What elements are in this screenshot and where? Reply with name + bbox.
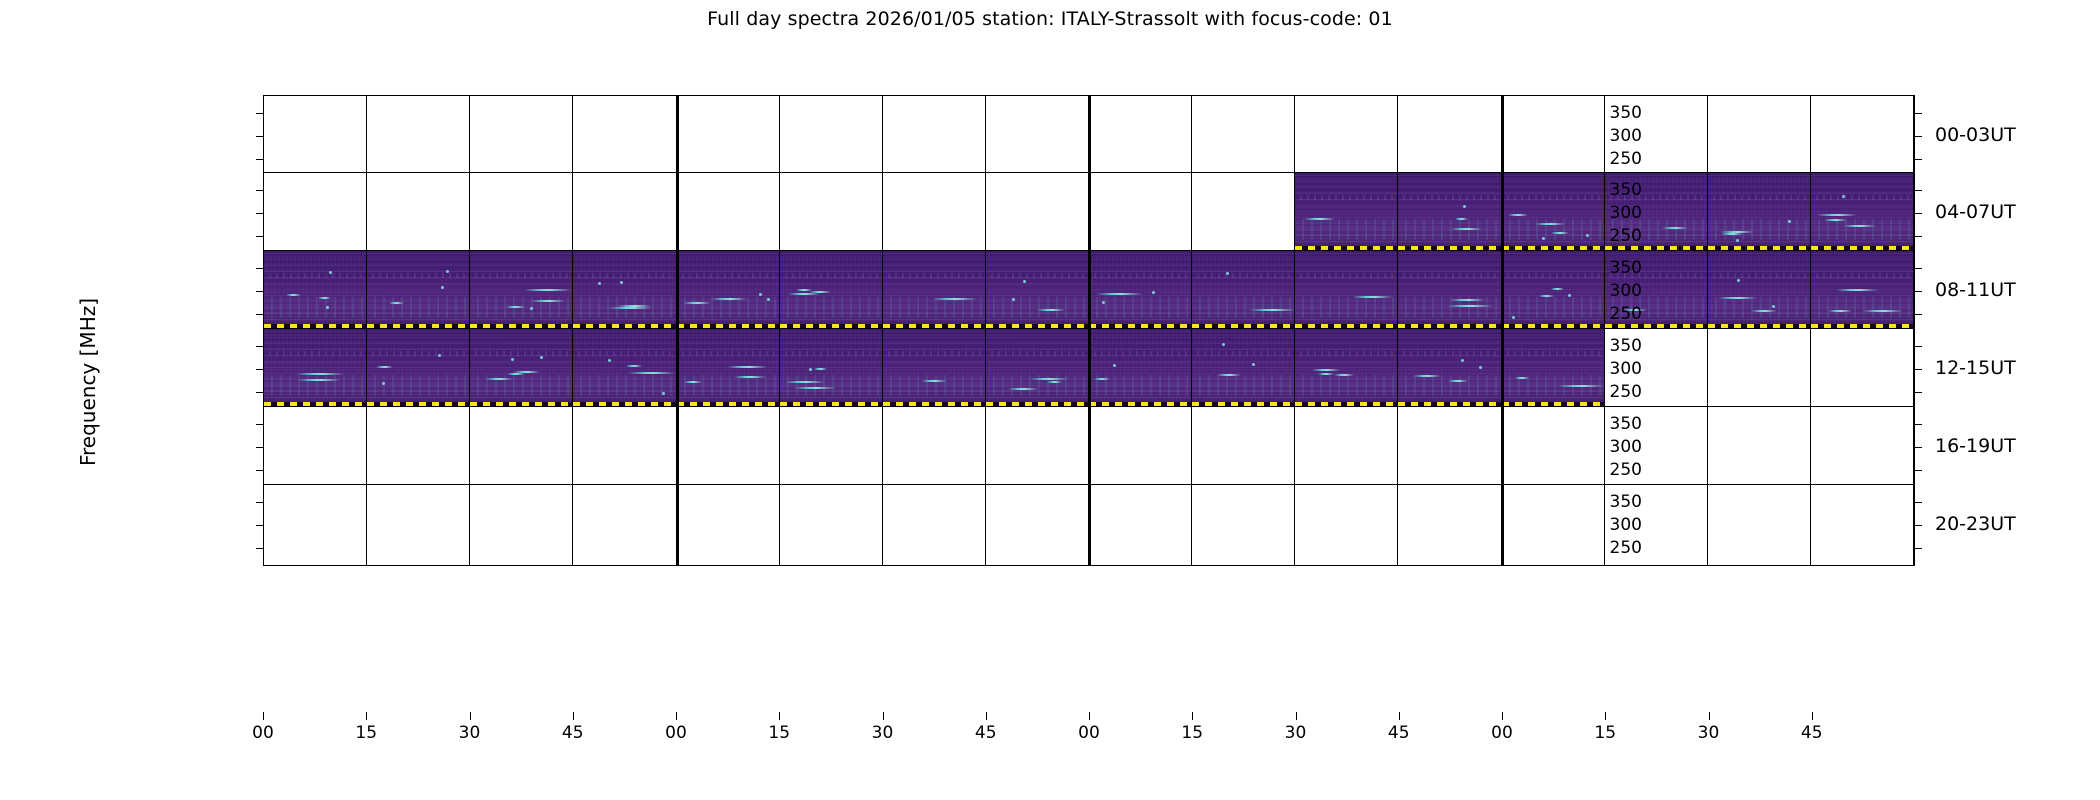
hour-separator — [677, 485, 679, 565]
x-tick-label: 00 — [252, 723, 274, 743]
y-tick-mark — [256, 447, 263, 448]
y-tick-mark — [256, 525, 263, 526]
spectra-texture — [677, 251, 779, 331]
y-axis-label: Frequency [MHz] — [76, 232, 100, 532]
spectra-bright-streak — [609, 307, 652, 309]
y-tick-mark — [256, 502, 263, 503]
spectra-bright-point — [540, 356, 543, 359]
x-tick-label: 30 — [1698, 723, 1720, 743]
spectra-panel-empty — [883, 96, 986, 176]
hour-separator — [1089, 329, 1091, 409]
hour-separator — [1089, 251, 1091, 331]
spectrogram-row: 350300250 — [263, 484, 1915, 566]
y-tick-label: 350 — [1582, 180, 1642, 200]
spectra-bright-streak — [1817, 214, 1857, 216]
spectra-panel-empty — [1708, 96, 1811, 176]
spectra-texture — [264, 251, 366, 331]
spectra-panel-empty — [264, 96, 367, 176]
spectra-bright-point — [511, 358, 514, 361]
spectra-panel-empty — [573, 407, 676, 487]
spectra-bright-streak — [1030, 378, 1068, 380]
hour-separator — [677, 96, 679, 176]
y-tick-mark-right — [1915, 470, 1922, 471]
spectra-bright-point — [608, 359, 611, 362]
x-tick-label: 15 — [768, 723, 790, 743]
spectra-panel-filled — [1089, 329, 1192, 409]
spectra-bright-streak — [1662, 227, 1688, 229]
x-tick-label: 00 — [1491, 723, 1513, 743]
hour-separator — [677, 251, 679, 331]
page-title: Full day spectra 2026/01/05 station: ITA… — [0, 8, 2100, 30]
spectra-bright-streak — [1094, 378, 1110, 380]
x-tick-mark — [263, 712, 264, 720]
row-plot-area — [263, 172, 1915, 254]
y-tick-label: 300 — [1582, 359, 1642, 379]
spectra-texture — [1708, 251, 1810, 331]
spectra-bright-point — [759, 293, 762, 296]
spectra-bright-streak — [1334, 374, 1355, 376]
spectra-bright-point — [1479, 366, 1482, 369]
x-tick-mark — [470, 712, 471, 720]
spectra-panel-filled — [1192, 329, 1295, 409]
spectra-bright-point — [1461, 359, 1464, 362]
spectra-panel-filled — [1295, 173, 1398, 253]
x-tick-label: 15 — [1181, 723, 1203, 743]
spectra-panel-empty — [1811, 485, 1914, 565]
spectrogram-row: 350300250 — [263, 95, 1915, 177]
y-tick-label: 250 — [1582, 149, 1642, 169]
x-tick-mark — [779, 712, 780, 720]
y-tick-mark-right — [1915, 392, 1922, 393]
spectra-panel-empty — [367, 96, 470, 176]
spectra-bright-streak — [296, 373, 343, 375]
spectra-panel-filled — [883, 251, 986, 331]
spectra-bright-streak — [1096, 293, 1142, 295]
spectra-bright-point — [382, 382, 385, 385]
spectra-bright-point — [1542, 237, 1545, 240]
spectra-bright-streak — [286, 294, 301, 296]
spectra-bright-streak — [814, 368, 827, 370]
spectra-panel-empty — [1089, 96, 1192, 176]
hour-separator — [677, 329, 679, 409]
hour-separator — [1502, 407, 1504, 487]
spectra-bright-streak — [626, 365, 642, 367]
spectra-bright-streak — [1718, 297, 1757, 299]
spectra-panel-filled — [986, 329, 1089, 409]
spectra-bright-streak — [485, 378, 513, 380]
spectra-panel-empty — [470, 96, 573, 176]
row-plot-area — [263, 484, 1915, 566]
y-tick-label: 300 — [1582, 281, 1642, 301]
y-tick-mark-right — [1915, 424, 1922, 425]
row-time-label: 00-03UT — [1935, 124, 2016, 146]
y-tick-mark-right — [1915, 447, 1922, 448]
spectra-panel-empty — [1295, 407, 1398, 487]
y-tick-mark — [256, 470, 263, 471]
spectra-panel-empty — [1192, 407, 1295, 487]
y-tick-label: 300 — [1582, 515, 1642, 535]
y-tick-mark-right — [1915, 268, 1922, 269]
spectra-panel-filled — [1708, 173, 1811, 253]
spectra-panel-empty — [1192, 96, 1295, 176]
spectra-panel-filled — [986, 251, 1089, 331]
x-tick-mark — [366, 712, 367, 720]
y-tick-mark — [256, 159, 263, 160]
x-axis: 00153045001530450015304500153045 — [263, 712, 1915, 752]
spectra-bright-streak — [785, 381, 824, 383]
spectra-panel-filled — [1192, 251, 1295, 331]
x-tick-mark — [1089, 712, 1090, 720]
spectra-bright-point — [1772, 305, 1775, 308]
y-tick-label: 250 — [1582, 226, 1642, 246]
x-tick-mark — [883, 712, 884, 720]
spectra-texture — [470, 329, 572, 409]
x-tick-mark — [1502, 712, 1503, 720]
spectra-bright-point — [1842, 195, 1845, 198]
spectra-panel-empty — [677, 96, 780, 176]
hour-separator — [1502, 96, 1504, 176]
spectra-texture — [1089, 329, 1191, 409]
spectra-texture — [780, 329, 882, 409]
spectra-panel-empty — [780, 485, 883, 565]
hour-separator — [677, 407, 679, 487]
spectra-panel-empty — [986, 173, 1089, 253]
x-tick-label: 30 — [1285, 723, 1307, 743]
y-tick-mark — [256, 548, 263, 549]
x-tick-label: 15 — [1594, 723, 1616, 743]
spectra-panel-empty — [1089, 173, 1192, 253]
spectra-bright-point — [1113, 364, 1116, 367]
spectra-bright-streak — [1217, 374, 1241, 376]
spectra-panel-filled — [573, 251, 676, 331]
spectra-panel-empty — [573, 173, 676, 253]
spectra-texture — [1295, 329, 1397, 409]
spectra-panel-filled — [470, 329, 573, 409]
spectra-panel-empty — [1295, 485, 1398, 565]
hour-separator — [1089, 485, 1091, 565]
spectra-texture — [986, 251, 1088, 331]
spectrogram-row: 350300250 — [263, 328, 1915, 410]
spectra-bright-streak — [734, 376, 766, 378]
spectra-bright-point — [1736, 239, 1739, 242]
spectra-panel-empty — [1089, 485, 1192, 565]
y-tick-label: 350 — [1582, 103, 1642, 123]
spectrogram-row: 350300250 — [263, 172, 1915, 254]
hour-separator — [1502, 485, 1504, 565]
spectra-panel-filled — [1295, 251, 1398, 331]
y-tick-mark-right — [1915, 213, 1922, 214]
spectra-panel-filled — [1811, 173, 1914, 253]
spectra-bright-streak — [932, 298, 977, 300]
spectra-bright-streak — [1551, 232, 1569, 234]
y-tick-mark-right — [1915, 190, 1922, 191]
spectra-texture — [1708, 173, 1810, 253]
x-tick-label: 15 — [355, 723, 377, 743]
spectra-panel-empty — [264, 485, 367, 565]
spectra-panel-empty — [1398, 407, 1501, 487]
row-time-label: 16-19UT — [1935, 435, 2016, 457]
y-tick-mark-right — [1915, 113, 1922, 114]
spectra-panel-filled — [1398, 251, 1501, 331]
spectrogram-row: 350300250 — [263, 406, 1915, 488]
spectra-bright-point — [438, 354, 441, 357]
spectra-texture — [264, 329, 366, 409]
spectra-panel-empty — [1708, 329, 1811, 409]
x-tick-mark — [986, 712, 987, 720]
spectra-panel-empty — [1811, 329, 1914, 409]
spectra-panel-empty — [883, 485, 986, 565]
y-tick-mark-right — [1915, 502, 1922, 503]
spectra-texture — [573, 251, 675, 331]
spectra-bright-point — [1463, 205, 1466, 208]
x-tick-label: 45 — [562, 723, 584, 743]
spectra-panel-empty — [573, 96, 676, 176]
spectra-panel-filled — [677, 329, 780, 409]
spectra-bright-streak — [1304, 218, 1335, 220]
y-tick-label: 250 — [1582, 460, 1642, 480]
spectra-panel-filled — [264, 329, 367, 409]
row-plot-area — [263, 95, 1915, 177]
spectra-texture — [1398, 251, 1500, 331]
spectra-panel-empty — [780, 173, 883, 253]
y-tick-label: 250 — [1582, 538, 1642, 558]
spectra-bright-streak — [531, 300, 566, 302]
x-tick-label: 30 — [872, 723, 894, 743]
spectra-bright-streak — [1448, 380, 1468, 382]
spectra-panel-filled — [677, 251, 780, 331]
row-time-label: 20-23UT — [1935, 513, 2016, 535]
spectra-texture — [1398, 329, 1500, 409]
spectra-panel-filled — [264, 251, 367, 331]
y-tick-mark-right — [1915, 291, 1922, 292]
spectra-panel-filled — [573, 329, 676, 409]
spectra-bright-streak — [1843, 225, 1876, 227]
row-plot-area — [263, 328, 1915, 410]
spectra-texture — [883, 251, 985, 331]
y-tick-label: 350 — [1582, 336, 1642, 356]
y-tick-label: 300 — [1582, 203, 1642, 223]
x-tick-mark — [1605, 712, 1606, 720]
spectra-panel-empty — [1811, 96, 1914, 176]
x-tick-mark — [573, 712, 574, 720]
y-tick-mark — [256, 190, 263, 191]
spectra-bright-streak — [1824, 219, 1848, 221]
y-tick-mark-right — [1915, 369, 1922, 370]
row-plot-area — [263, 406, 1915, 488]
spectra-panel-empty — [883, 173, 986, 253]
y-tick-mark-right — [1915, 548, 1922, 549]
spectra-panel-empty — [780, 96, 883, 176]
y-tick-mark-right — [1915, 525, 1922, 526]
spectra-panel-empty — [1089, 407, 1192, 487]
spectra-bright-streak — [1312, 369, 1340, 371]
y-tick-mark-right — [1915, 314, 1922, 315]
spectra-bright-streak — [1535, 223, 1565, 225]
y-tick-mark — [256, 236, 263, 237]
y-tick-mark — [256, 136, 263, 137]
y-tick-mark-right — [1915, 346, 1922, 347]
spectra-panel-empty — [264, 407, 367, 487]
spectra-panel-empty — [677, 173, 780, 253]
y-tick-label: 300 — [1582, 437, 1642, 457]
x-tick-mark — [1709, 712, 1710, 720]
spectra-panel-filled — [1398, 329, 1501, 409]
spectra-bright-streak — [1551, 288, 1565, 290]
spectra-panel-empty — [573, 485, 676, 565]
spectra-panel-empty — [1398, 96, 1501, 176]
spectra-panel-filled — [1398, 173, 1501, 253]
hour-separator — [1089, 173, 1091, 253]
spectra-bright-point — [662, 392, 665, 395]
spectra-texture — [1192, 329, 1294, 409]
spectra-panel-empty — [677, 485, 780, 565]
x-tick-mark — [1296, 712, 1297, 720]
spectra-panel-empty — [470, 173, 573, 253]
spectra-panel-empty — [367, 407, 470, 487]
spectra-panel-empty — [1708, 407, 1811, 487]
spectra-bright-point — [1226, 272, 1229, 275]
spectra-panel-empty — [470, 485, 573, 565]
spectra-bright-streak — [506, 306, 525, 308]
spectra-texture — [677, 329, 779, 409]
y-tick-label: 350 — [1582, 258, 1642, 278]
spectra-panel-empty — [1811, 407, 1914, 487]
spectra-bright-point — [1252, 363, 1255, 366]
y-tick-label: 250 — [1582, 304, 1642, 324]
spectra-panel-empty — [986, 96, 1089, 176]
hour-separator — [1089, 407, 1091, 487]
spectra-bright-streak — [1008, 388, 1037, 390]
spectra-panel-empty — [883, 407, 986, 487]
spectra-texture — [883, 329, 985, 409]
spectra-bright-streak — [297, 379, 341, 381]
spectra-panel-empty — [986, 485, 1089, 565]
spectra-texture — [1811, 173, 1913, 253]
x-tick-label: 00 — [1078, 723, 1100, 743]
spectra-texture — [1295, 173, 1397, 253]
hour-separator — [1089, 96, 1091, 176]
row-time-label: 04-07UT — [1935, 201, 2016, 223]
y-tick-label: 350 — [1582, 492, 1642, 512]
spectra-panel-filled — [1089, 251, 1192, 331]
x-tick-mark — [1399, 712, 1400, 720]
spectra-panel-empty — [986, 407, 1089, 487]
x-tick-label: 00 — [665, 723, 687, 743]
spectra-panel-filled — [1708, 251, 1811, 331]
spectra-bright-streak — [318, 297, 331, 299]
y-tick-mark — [256, 314, 263, 315]
spectra-panel-filled — [470, 251, 573, 331]
y-tick-label: 250 — [1582, 382, 1642, 402]
y-tick-mark-right — [1915, 159, 1922, 160]
row-plot-area — [263, 250, 1915, 332]
spectra-texture — [367, 329, 469, 409]
spectra-panel-empty — [780, 407, 883, 487]
spectra-bright-streak — [711, 298, 747, 300]
spectra-bright-streak — [1828, 310, 1852, 312]
spectra-panel-filled — [1295, 329, 1398, 409]
spectra-panel-empty — [367, 173, 470, 253]
hour-separator — [1502, 251, 1504, 331]
y-tick-mark — [256, 369, 263, 370]
y-tick-mark — [256, 424, 263, 425]
y-tick-mark — [256, 392, 263, 393]
x-tick-label: 30 — [459, 723, 481, 743]
spectra-bright-streak — [921, 380, 947, 382]
spectra-panel-filled — [1811, 251, 1914, 331]
spectra-bright-point — [809, 368, 812, 371]
row-time-label: 12-15UT — [1935, 357, 2016, 379]
x-tick-mark — [1192, 712, 1193, 720]
spectra-panel-empty — [367, 485, 470, 565]
spectrogram-row: 350300250 — [263, 250, 1915, 332]
spectra-texture — [1192, 251, 1294, 331]
spectra-bright-streak — [1447, 305, 1493, 307]
x-tick-label: 45 — [1388, 723, 1410, 743]
spectra-bright-streak — [1836, 289, 1879, 291]
spectra-panel-empty — [264, 173, 367, 253]
y-tick-mark-right — [1915, 136, 1922, 137]
spectra-bright-streak — [1455, 218, 1468, 220]
spectra-texture — [1398, 173, 1500, 253]
x-tick-label: 45 — [975, 723, 997, 743]
spectra-panel-filled — [367, 251, 470, 331]
spectra-panel-empty — [470, 407, 573, 487]
x-tick-mark — [1812, 712, 1813, 720]
spectra-panel-empty — [677, 407, 780, 487]
spectra-panel-filled — [883, 329, 986, 409]
spectra-panel-empty — [1295, 96, 1398, 176]
hour-separator — [677, 173, 679, 253]
y-tick-mark — [256, 268, 263, 269]
spectra-texture — [1295, 251, 1397, 331]
spectra-panel-empty — [1192, 173, 1295, 253]
y-tick-mark — [256, 346, 263, 347]
spectra-bright-streak — [1318, 373, 1334, 375]
spectra-bright-streak — [1450, 299, 1486, 301]
y-tick-mark — [256, 291, 263, 292]
y-tick-label: 350 — [1582, 414, 1642, 434]
spectra-texture — [1089, 251, 1191, 331]
spectra-bright-streak — [788, 293, 819, 295]
x-tick-mark — [676, 712, 677, 720]
spectra-bright-point — [598, 282, 601, 285]
y-tick-mark — [256, 213, 263, 214]
spectra-bright-streak — [1539, 295, 1554, 297]
spectra-panel-empty — [1708, 485, 1811, 565]
x-tick-label: 45 — [1801, 723, 1823, 743]
spectra-texture — [367, 251, 469, 331]
row-time-label: 08-11UT — [1935, 279, 2016, 301]
spectrogram-figure: Full day spectra 2026/01/05 station: ITA… — [0, 0, 2100, 800]
spectra-texture — [573, 329, 675, 409]
spectra-panel-filled — [780, 251, 883, 331]
y-tick-mark — [256, 113, 263, 114]
spectra-panel-empty — [1192, 485, 1295, 565]
spectra-panel-empty — [1398, 485, 1501, 565]
y-tick-label: 300 — [1582, 126, 1642, 146]
spectra-bright-streak — [1751, 310, 1777, 312]
hour-separator — [1502, 173, 1504, 253]
spectra-bright-streak — [1451, 228, 1482, 230]
hour-separator — [1502, 329, 1504, 409]
y-tick-mark-right — [1915, 236, 1922, 237]
spectra-panel-filled — [367, 329, 470, 409]
spectra-bright-streak — [1047, 381, 1062, 383]
spectra-texture — [986, 329, 1088, 409]
spectra-panel-filled — [780, 329, 883, 409]
